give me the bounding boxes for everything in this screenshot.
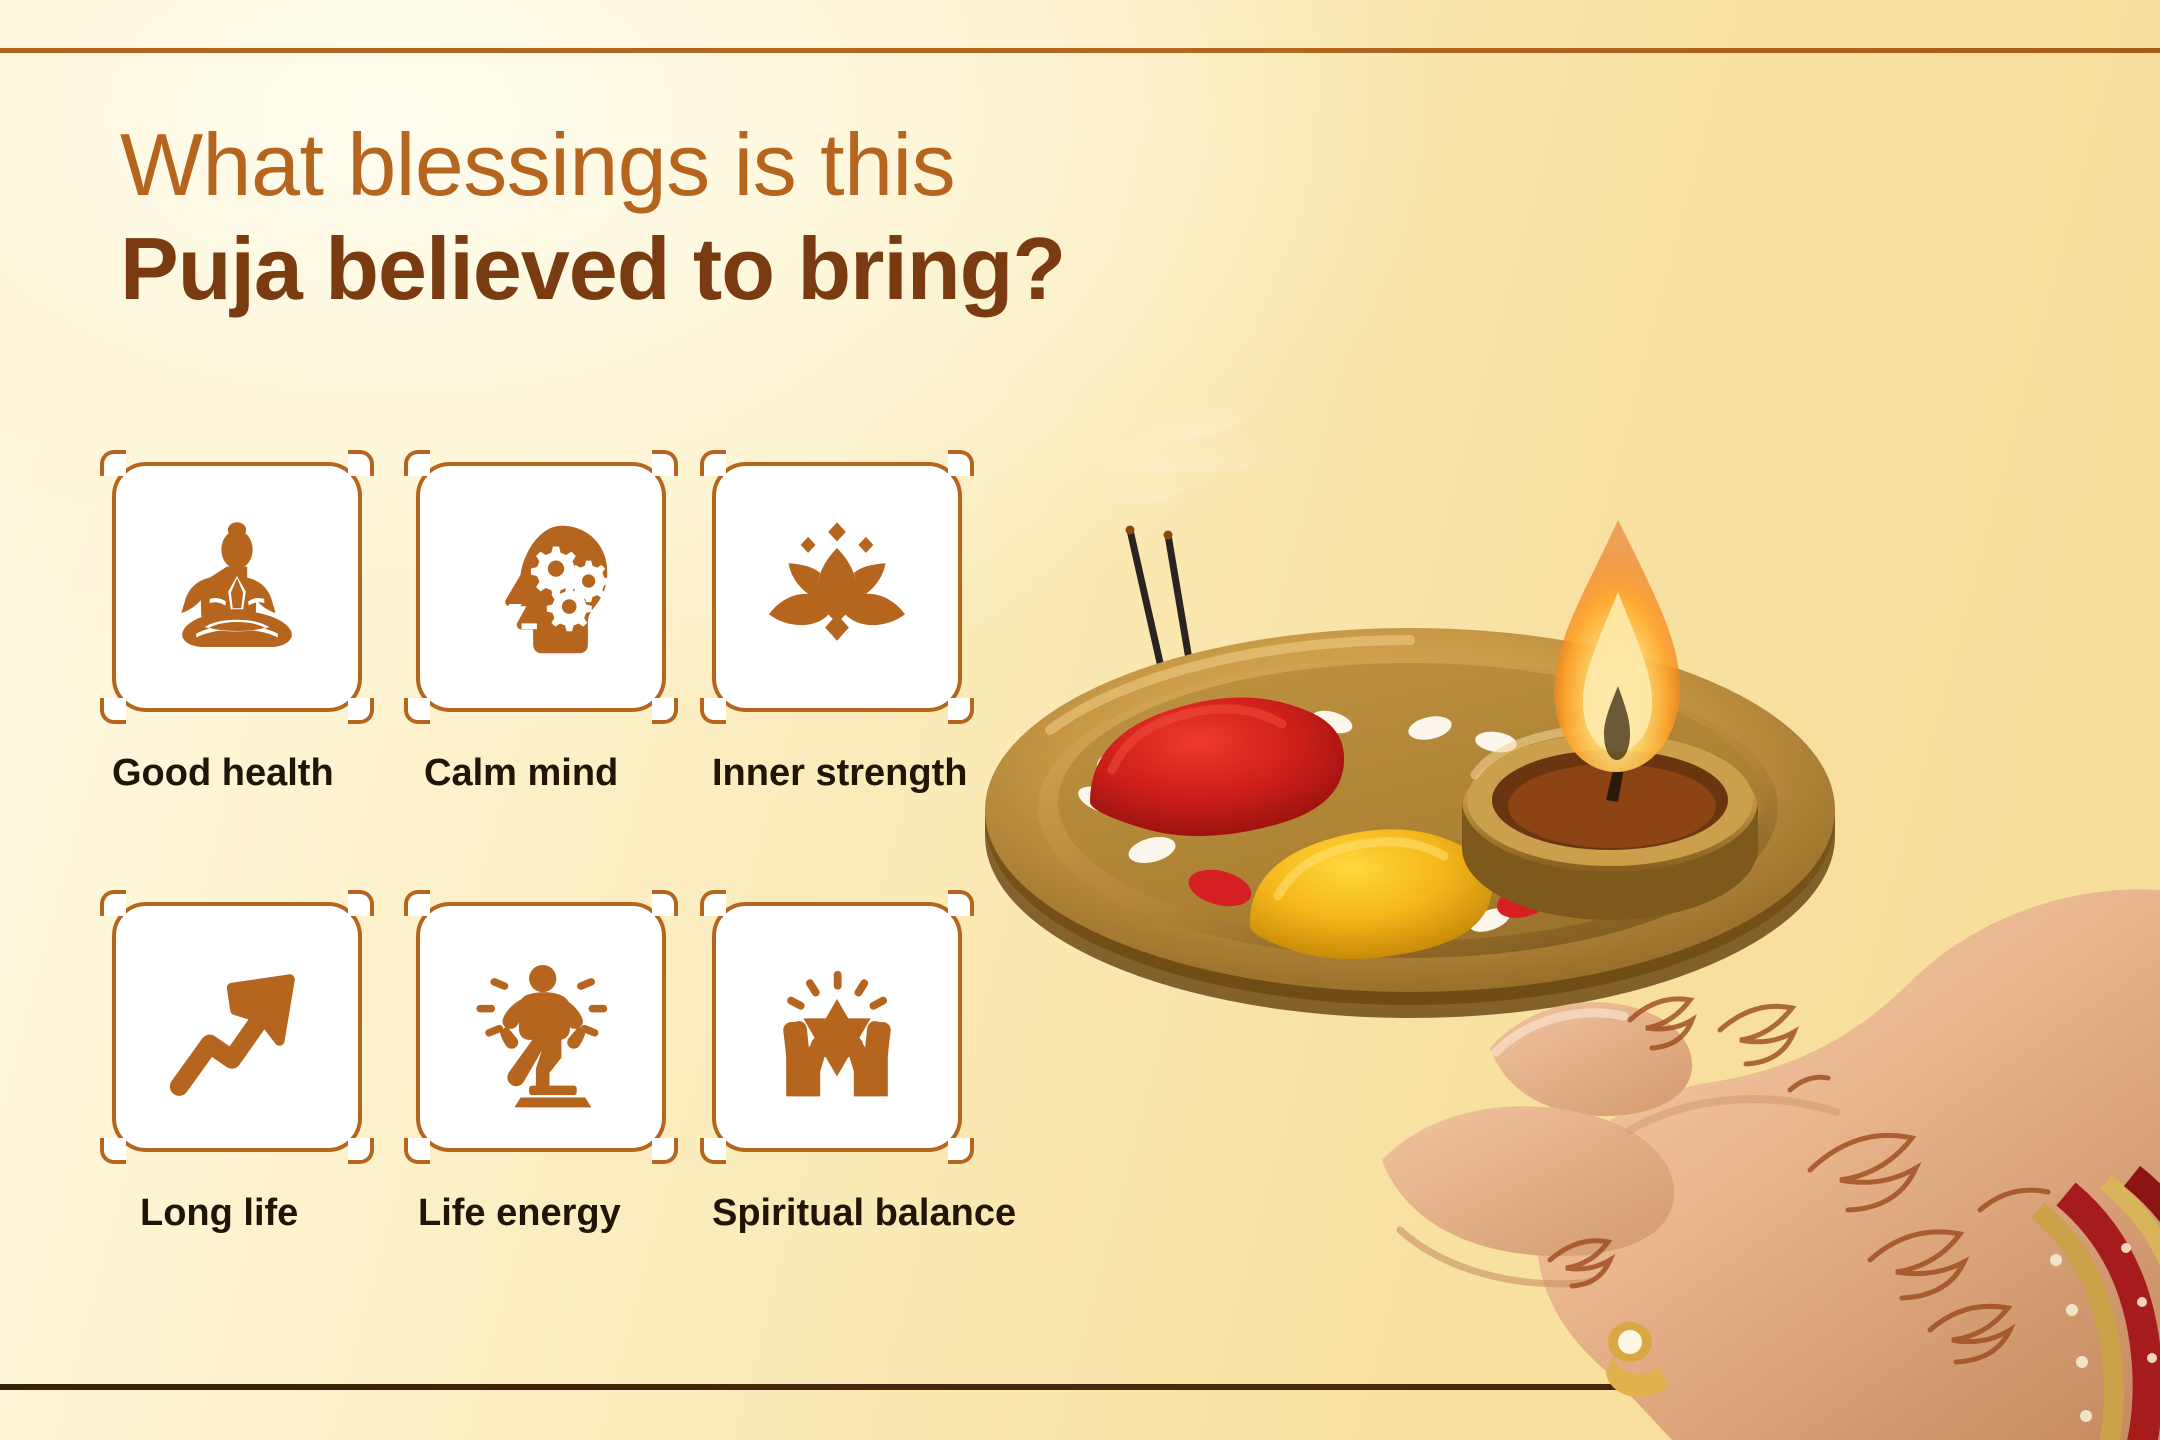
icon-tile: [416, 902, 666, 1152]
tile-corner-notch: [948, 890, 974, 916]
upward-arrow-icon: [152, 942, 322, 1112]
page-title: What blessings is this Puja believed to …: [120, 118, 1065, 320]
red-rose-petals: [1108, 736, 1759, 952]
bottom-divider-rule: [0, 1384, 2160, 1390]
tile-corner-notch: [100, 698, 126, 724]
infographic-canvas: What blessings is this Puja believed to …: [0, 0, 2160, 1440]
tile-corner-notch: [348, 1138, 374, 1164]
blessing-label: Inner strength: [712, 752, 982, 795]
headline-line-1: What blessings is this: [120, 118, 1065, 211]
yellow-turmeric-powder: [1250, 829, 1492, 959]
two-incense-sticks: [1126, 526, 1207, 761]
top-divider-rule: [0, 48, 2160, 53]
tile-corner-notch: [404, 450, 430, 476]
hand-holding-puja-thali-photo: [930, 330, 2160, 1440]
tile-corner-notch: [348, 450, 374, 476]
tile-corner-notch: [652, 698, 678, 724]
tile-corner-notch: [700, 1138, 726, 1164]
head-with-gears-icon: [456, 502, 626, 672]
blessings-grid: Good health: [112, 462, 966, 1342]
blessing-item-long-life[interactable]: Long life: [112, 902, 382, 1342]
tile-corner-notch: [100, 450, 126, 476]
running-person-icon: [456, 942, 626, 1112]
hands-holding-star-icon: [752, 942, 922, 1112]
tile-corner-notch: [404, 1138, 430, 1164]
blessing-item-life-energy[interactable]: Life energy: [416, 902, 686, 1342]
red-and-gold-bangles: [2038, 1176, 2160, 1440]
diya-flame: [1554, 520, 1680, 772]
tile-corner-notch: [348, 890, 374, 916]
blessing-label: Spiritual balance: [712, 1192, 982, 1235]
tile-corner-notch: [700, 450, 726, 476]
blessing-label: Life energy: [416, 1192, 686, 1235]
icon-tile: [712, 462, 962, 712]
red-kumkum-powder: [1090, 697, 1344, 836]
headline-line-2: Puja believed to bring?: [120, 219, 1065, 319]
blessing-item-spiritual-balance[interactable]: Spiritual balance: [712, 902, 982, 1342]
brass-diya-lamp: [1462, 729, 1758, 920]
tile-corner-notch: [404, 890, 430, 916]
tile-corner-notch: [652, 1138, 678, 1164]
tile-corner-notch: [700, 698, 726, 724]
tile-corner-notch: [652, 450, 678, 476]
blessing-item-calm-mind[interactable]: Calm mind: [416, 462, 686, 902]
icon-tile: [712, 902, 962, 1152]
tile-corner-notch: [948, 698, 974, 724]
blessing-item-inner-strength[interactable]: Inner strength: [712, 462, 982, 902]
tile-corner-notch: [404, 698, 430, 724]
tile-corner-notch: [652, 890, 678, 916]
blessing-label: Long life: [112, 1192, 382, 1235]
incense-smoke: [1060, 376, 1300, 505]
mehndi-decorated-hand: [1382, 889, 2160, 1440]
tile-corner-notch: [100, 1138, 126, 1164]
mehndi-pattern: [1550, 999, 2048, 1362]
icon-tile: [112, 462, 362, 712]
white-jasmine-flowers: [1075, 707, 1714, 937]
blessing-item-good-health[interactable]: Good health: [112, 462, 382, 902]
blessing-label: Good health: [112, 752, 382, 795]
icon-tile: [112, 902, 362, 1152]
tile-corner-notch: [100, 890, 126, 916]
blessing-label: Calm mind: [416, 752, 686, 795]
meditating-person-icon: [152, 502, 322, 672]
puja-thali-illustration: [930, 330, 2160, 1440]
tile-corner-notch: [700, 890, 726, 916]
icon-tile: [416, 462, 666, 712]
tile-corner-notch: [348, 698, 374, 724]
brass-thali-plate: [985, 628, 1835, 1018]
lotus-flower-icon: [752, 502, 922, 672]
tile-corner-notch: [948, 1138, 974, 1164]
tile-corner-notch: [948, 450, 974, 476]
thali-contents: [1075, 697, 1759, 959]
